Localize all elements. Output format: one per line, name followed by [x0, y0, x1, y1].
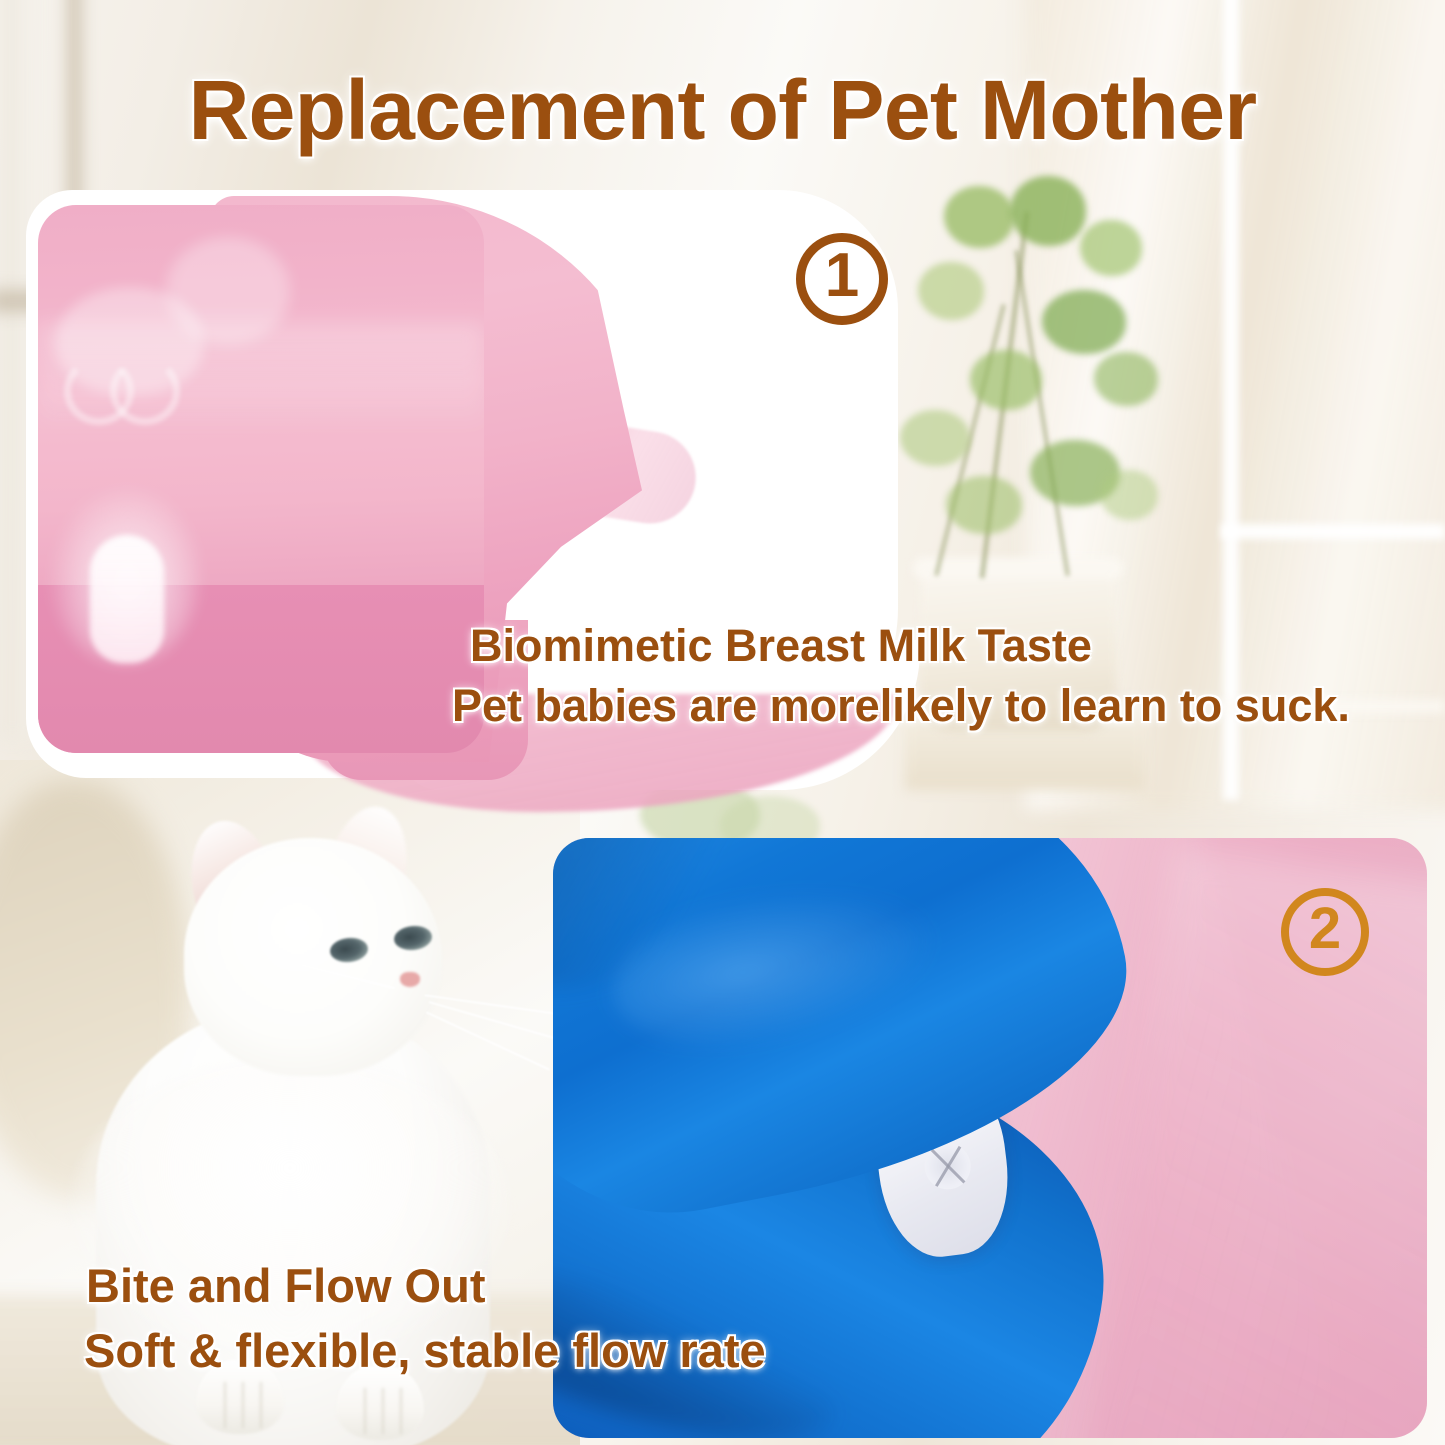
- plant-leaf: [1010, 176, 1086, 246]
- product-bottle-face: [38, 205, 484, 753]
- feature-2-headline: Bite and Flow Out: [86, 1258, 485, 1313]
- cat-nose: [400, 972, 420, 987]
- step-badge-2: 2: [1281, 888, 1369, 976]
- feature-1-subline: Pet babies are morelikely to learn to su…: [452, 680, 1350, 732]
- plant-leaf: [1042, 290, 1126, 354]
- cat-paw-toe-line: [364, 1388, 366, 1434]
- feature-2-subline: Soft & flexible, stable flow rate: [84, 1323, 766, 1378]
- shelf-board-upper: [1221, 524, 1445, 539]
- feature-1-headline: Biomimetic Breast Milk Taste: [470, 620, 1092, 672]
- cat-paw-toe-line: [260, 1382, 262, 1428]
- plant-leaf: [1080, 220, 1142, 276]
- cat-paw-toe-line: [242, 1382, 244, 1428]
- cat-paw-toe-line: [382, 1388, 384, 1434]
- plant-leaf: [900, 410, 970, 466]
- cat-chest-ruff: [70, 1060, 510, 1360]
- plant-leaf: [970, 350, 1042, 410]
- plant-leaf: [1100, 470, 1158, 520]
- product-feature-poster: Replacement of Pet Mother 1 2 Biomimetic…: [0, 0, 1445, 1445]
- plant-leaf: [946, 476, 1022, 534]
- nipple-cut-line: [931, 1149, 965, 1183]
- plant-leaf: [1094, 352, 1158, 406]
- product-mouth-right: [110, 357, 180, 425]
- plant-leaf: [918, 262, 984, 320]
- cat-whisker: [426, 1011, 550, 1070]
- step-badge-1-label: 1: [825, 245, 859, 307]
- plant-leaf: [944, 186, 1014, 248]
- step-badge-2-label: 2: [1309, 900, 1341, 958]
- cat-paw-toe-line: [400, 1388, 402, 1434]
- step-badge-1: 1: [796, 233, 888, 325]
- cat-head: [184, 838, 442, 1076]
- page-title: Replacement of Pet Mother: [0, 62, 1445, 159]
- cat-paw-toe-line: [224, 1382, 226, 1428]
- product-nipple-tip: [90, 535, 164, 663]
